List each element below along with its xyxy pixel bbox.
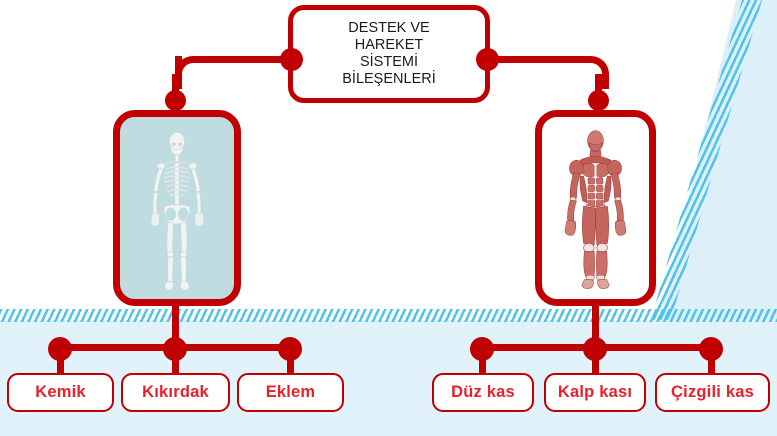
root-title-line-2: HAREKET [342,37,436,54]
connector-node-right-leaf-1 [470,337,494,361]
leaf-box-kemik[interactable]: Kemik [7,373,114,412]
leaf-label-cizgili-kas: Çizgili kas [671,383,754,402]
skeleton-image-card[interactable] [113,110,241,306]
leaf-box-kikirdak[interactable]: Kıkırdak [121,373,230,412]
leaf-label-kikirdak: Kıkırdak [142,383,209,402]
connector-left-corner [175,56,208,89]
leaf-box-eklem[interactable]: Eklem [237,373,344,412]
root-title-line-3: SİSTEMİ [342,54,436,71]
human-muscular-system-icon [542,117,649,299]
connector-node-right-card [588,90,609,111]
diagram-canvas: DESTEK VE HAREKET SİSTEMİ BİLEŞENLERİ [0,0,777,436]
horizontal-hatch-stripes [0,309,777,322]
leaf-box-duz-kas[interactable]: Düz kas [432,373,534,412]
root-title-text: DESTEK VE HAREKET SİSTEMİ BİLEŞENLERİ [342,20,436,88]
root-title-line-4: BİLEŞENLERİ [342,71,436,88]
connector-node-left-leaf-1 [48,337,72,361]
connector-node-title-right [476,48,499,71]
connector-node-left-leaf-2 [163,337,187,361]
human-skeleton-icon [120,117,234,299]
leaf-box-cizgili-kas[interactable]: Çizgili kas [655,373,770,412]
connector-node-right-leaf-2 [583,337,607,361]
leaf-label-kemik: Kemik [35,383,86,402]
connector-node-right-leaf-3 [699,337,723,361]
leaf-label-duz-kas: Düz kas [451,383,515,402]
leaf-label-eklem: Eklem [266,383,316,402]
leaf-label-kalp-kasi: Kalp kası [558,383,632,402]
root-title-line-1: DESTEK VE [342,20,436,37]
connector-node-left-leaf-3 [278,337,302,361]
root-title-node[interactable]: DESTEK VE HAREKET SİSTEMİ BİLEŞENLERİ [288,5,490,103]
connector-node-left-card [165,90,186,111]
connector-right-corner [576,56,609,89]
connector-node-title-left [280,48,303,71]
leaf-box-kalp-kasi[interactable]: Kalp kası [544,373,646,412]
muscle-image-card[interactable] [535,110,656,306]
